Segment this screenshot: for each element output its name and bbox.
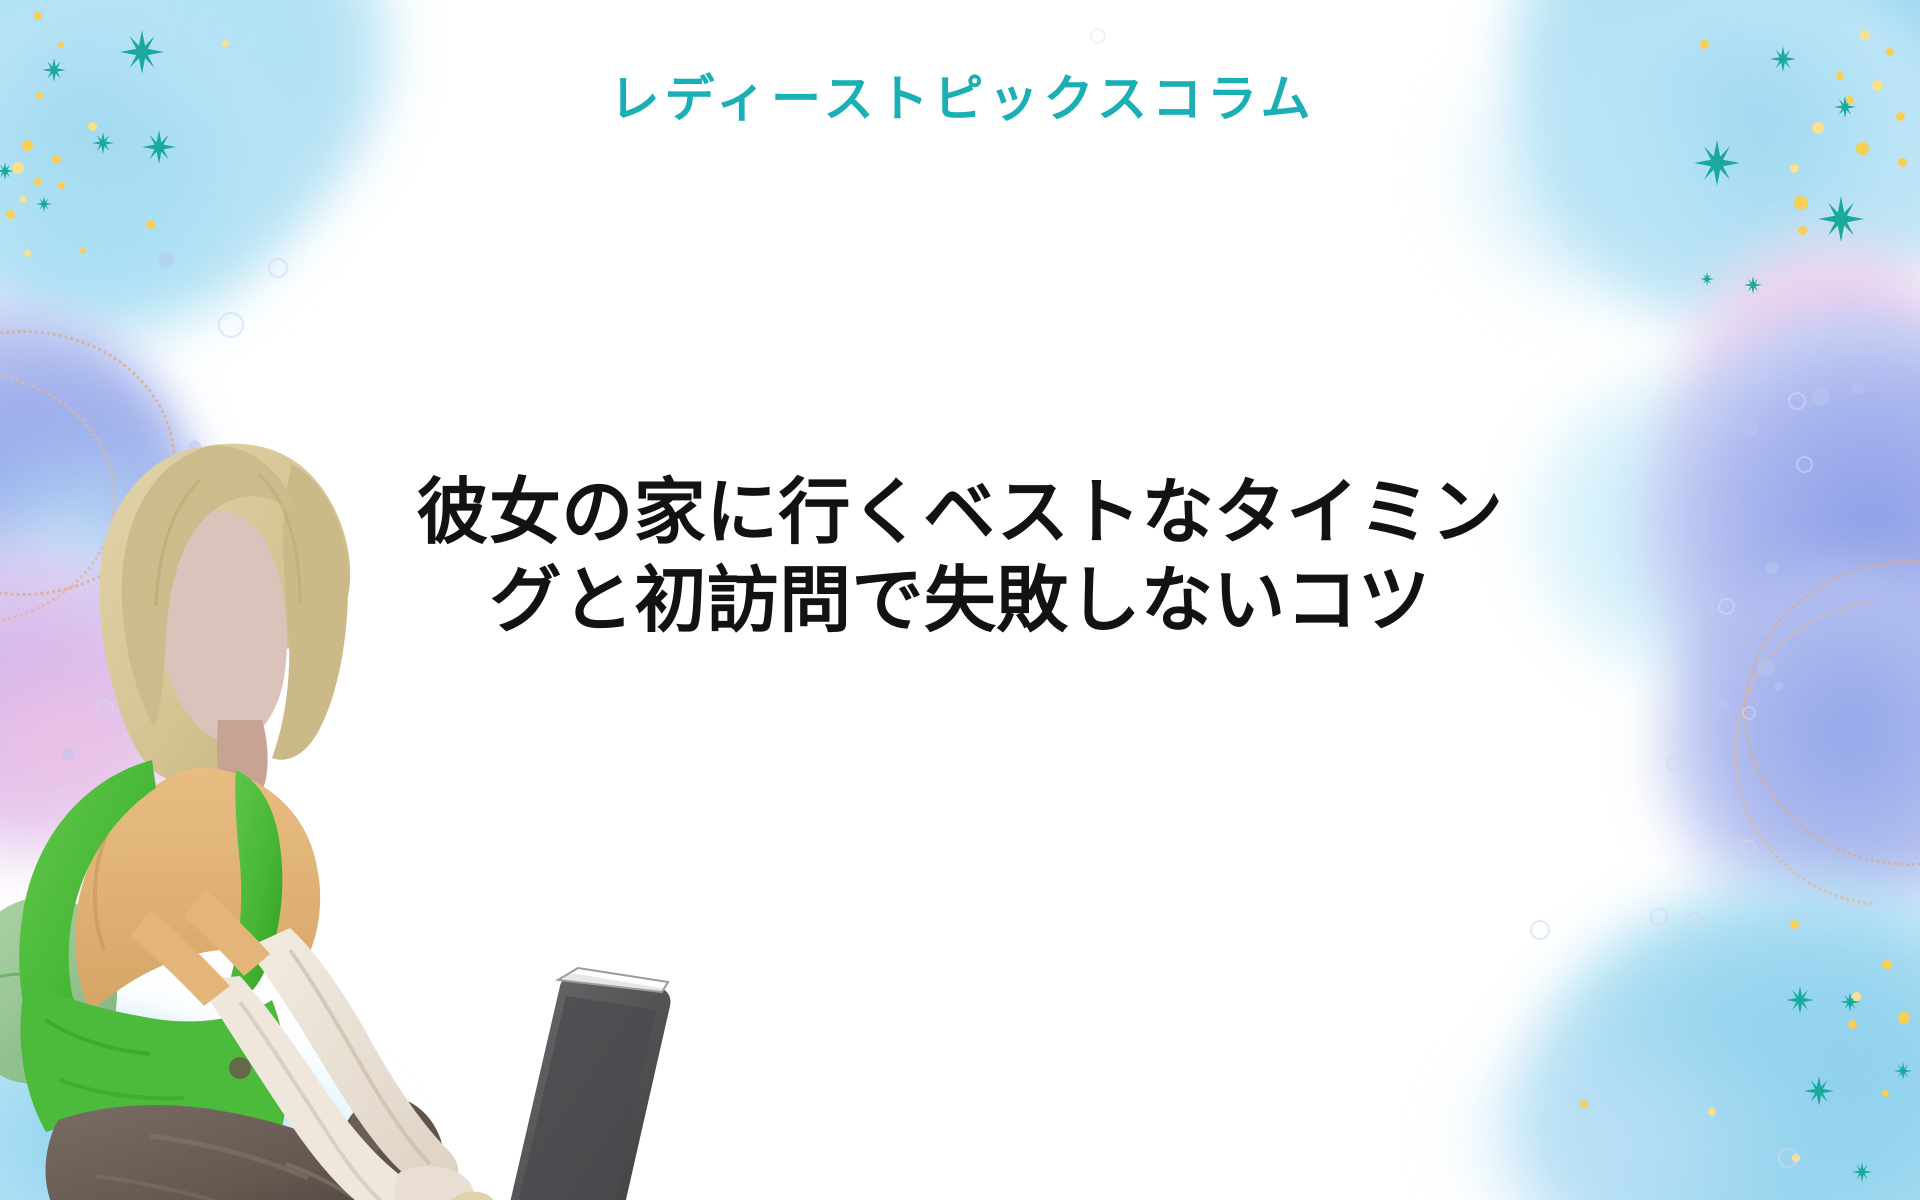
page-title-line-2: グと初訪問で失敗しないコツ [330, 558, 1590, 646]
bubble-ring [1530, 920, 1550, 940]
sparkle-star-icon [1744, 276, 1762, 294]
sparkle-star-icon [1894, 1062, 1912, 1080]
watercolor-blob-right-middle [1640, 300, 1920, 740]
watercolor-blob-top-right-3 [1440, 20, 1770, 320]
bubble-dot [1812, 388, 1830, 406]
bubble-ring [1090, 28, 1106, 44]
gold-dot [222, 40, 229, 47]
watercolor-blob-top-right-2 [1550, 0, 1920, 340]
gold-dot [1882, 960, 1892, 970]
bubble-ring [1666, 756, 1682, 772]
glitter-arc-right-1 [1744, 560, 1920, 866]
sparkle-star-icon [1852, 1162, 1872, 1182]
bubble-ring [1740, 840, 1756, 856]
gold-dot [22, 140, 33, 151]
gold-dot [1882, 1090, 1889, 1097]
gold-dot [1708, 1108, 1716, 1116]
sparkle-star-icon [1804, 1076, 1834, 1106]
gold-dot [34, 178, 42, 186]
gold-dot [1792, 1154, 1800, 1162]
watercolor-blob-bottom-right [1520, 880, 1920, 1200]
bubble-ring [218, 312, 244, 338]
watercolor-blob-top-left [0, 0, 390, 280]
bubble-ring [1796, 456, 1813, 473]
gold-dot [34, 12, 42, 20]
sparkle-star-icon [120, 30, 164, 74]
gold-dot [52, 155, 61, 164]
bubble-ring [268, 258, 288, 278]
bubble-dot [1774, 682, 1783, 691]
bubble-dot [1718, 700, 1728, 710]
sparkle-star-icon [36, 196, 52, 212]
page-title: 彼女の家に行くベストなタイミン グと初訪問で失敗しないコツ [330, 470, 1590, 646]
watercolor-blob-top-left-4 [0, 120, 260, 350]
gold-dot [6, 210, 15, 219]
page-title-line-1: 彼女の家に行くベストなタイミン [330, 470, 1590, 558]
sparkle-star-icon [1770, 46, 1796, 72]
gold-dot [1852, 992, 1861, 1001]
sparkle-star-icon [1786, 986, 1814, 1014]
bubble-dot [1694, 524, 1710, 540]
watercolor-blob-bottom-right-2 [1560, 960, 1920, 1200]
gold-dot [58, 182, 65, 189]
sparkle-star-icon [1700, 272, 1714, 286]
bubble-ring [1742, 706, 1756, 720]
sparkle-star-icon [142, 130, 176, 164]
gold-dot [1860, 30, 1870, 40]
gold-dot [1848, 1020, 1857, 1029]
thumbnail-canvas: レディーストピックスコラム 彼女の家に行くベストなタイミン グと初訪問で失敗しな… [0, 0, 1920, 1200]
bubble-ring [1686, 912, 1702, 928]
gold-dot [1790, 164, 1799, 173]
sparkle-star-icon [0, 162, 14, 180]
gold-dot [1790, 920, 1799, 929]
gold-dot [146, 220, 155, 229]
gold-dot [20, 196, 27, 203]
watercolor-blob-top-left-2 [0, 0, 320, 340]
glitter-arc-right-2 [1734, 600, 1920, 906]
gold-dot [1580, 1100, 1588, 1108]
bubble-ring [1778, 1148, 1798, 1168]
bubble-ring [1718, 598, 1735, 615]
sparkle-star-icon [92, 132, 114, 154]
bubble-ring [1650, 908, 1668, 926]
watercolor-blob-right-middle-2 [1680, 230, 1920, 530]
gold-dot [1794, 196, 1808, 210]
bubble-dot [1758, 660, 1775, 677]
gold-dot [24, 250, 31, 257]
gold-dot [12, 162, 24, 174]
bubble-ring [1788, 392, 1806, 410]
bubble-dot [158, 252, 174, 268]
bubble-dot [1742, 420, 1758, 436]
sparkle-star-icon [1818, 196, 1864, 242]
column-category-label: レディーストピックスコラム [0, 72, 1920, 127]
gold-dot [1898, 158, 1907, 167]
gold-dot [1856, 142, 1869, 155]
gold-dot [1798, 226, 1807, 235]
watercolor-blob-bottom-right-3 [1450, 1010, 1780, 1200]
sparkle-star-icon [1840, 992, 1860, 1012]
gold-dot [80, 248, 86, 254]
watercolor-blob-right-middle-4 [1650, 560, 1920, 940]
bubble-dot [1852, 382, 1864, 394]
bubble-dot [1766, 562, 1778, 574]
gold-dot [1898, 1012, 1910, 1024]
gold-dot [58, 42, 64, 48]
gold-dot [1886, 48, 1894, 56]
gold-dot [1700, 40, 1709, 49]
sparkle-star-icon [1694, 140, 1740, 186]
watercolor-blob-top-right [1510, 0, 1920, 270]
